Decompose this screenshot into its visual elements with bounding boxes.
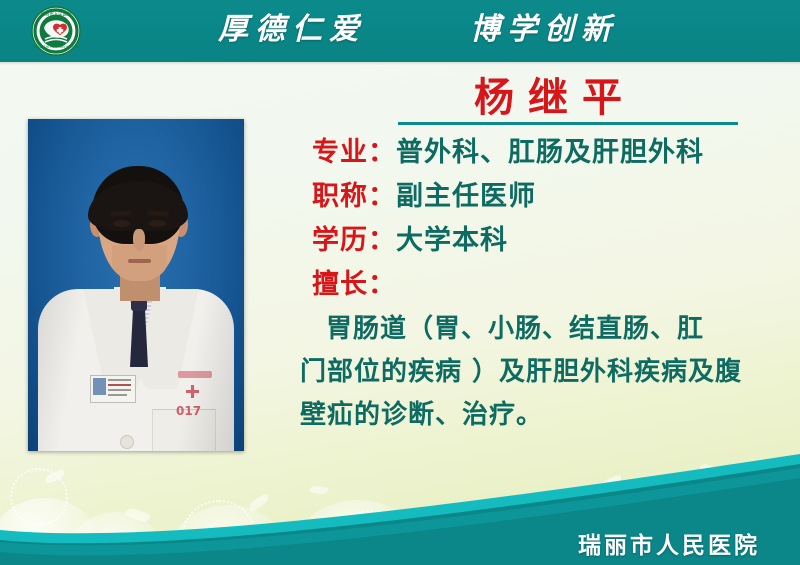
info-value-specialty: 普外科、肛肠及肝胆外科: [396, 137, 704, 168]
info-row-expertise: 擅长：: [312, 263, 782, 307]
info-label-expertise: 擅长：: [312, 269, 396, 300]
hospital-logo-icon: 瑞丽市人民医院 RUI LI SHI REN MIN YI YUAN 1951: [20, 6, 92, 56]
info-label-education: 学历：: [312, 225, 396, 256]
hospital-logo: 瑞丽市人民医院 RUI LI SHI REN MIN YI YUAN 1951: [20, 6, 92, 56]
portrait-nose: [133, 229, 145, 251]
expertise-line: 壁疝的诊断、治疗。: [300, 394, 790, 437]
svg-text:1951: 1951: [52, 50, 60, 54]
expertise-line: 胃肠道（胃、小肠、结直肠、肛: [300, 308, 790, 351]
info-row-education: 学历：大学本科: [312, 219, 782, 263]
info-value-education: 大学本科: [396, 225, 508, 256]
portrait-coat-shading: [38, 289, 234, 451]
doctor-portrait-photo: 017: [28, 119, 244, 451]
portrait-eye-right: [149, 220, 166, 227]
portrait-mouth: [128, 259, 151, 263]
portrait-eye-left: [113, 220, 130, 227]
header-motto-left: 厚德仁爱: [218, 8, 366, 52]
slide-canvas: 瑞丽市人民医院 瑞丽市人民医院 RUI LI SHI REN MIN YI YU…: [0, 0, 800, 565]
doctor-name: 杨继平: [474, 75, 636, 121]
header-band-shadow: [0, 62, 800, 65]
expertise-paragraph: 胃肠道（胃、小肠、结直肠、肛 门部位的疾病 ）及肝胆外科疾病及腹 壁疝的诊断、治…: [300, 308, 790, 437]
header-band: [0, 0, 800, 62]
footer-hospital-name: 瑞丽市人民医院: [578, 526, 760, 560]
name-underline-rule: [398, 122, 738, 125]
doctor-info-list: 专业：普外科、肛肠及肝胆外科 职称：副主任医师 学历：大学本科 擅长：: [312, 131, 782, 307]
info-row-title: 职称：副主任医师: [312, 175, 782, 219]
header-motto-right: 博学创新: [470, 8, 618, 52]
expertise-line: 门部位的疾病 ）及肝胆外科疾病及腹: [300, 351, 790, 394]
info-row-specialty: 专业：普外科、肛肠及肝胆外科: [312, 131, 782, 175]
info-label-specialty: 专业：: [312, 137, 396, 168]
svg-text:瑞丽市人民医院: 瑞丽市人民医院: [41, 11, 72, 18]
svg-text:RUI LI SHI REN MIN YI YUAN: RUI LI SHI REN MIN YI YUAN: [33, 45, 80, 49]
info-label-title: 职称：: [312, 181, 396, 212]
info-value-title: 副主任医师: [396, 181, 536, 212]
